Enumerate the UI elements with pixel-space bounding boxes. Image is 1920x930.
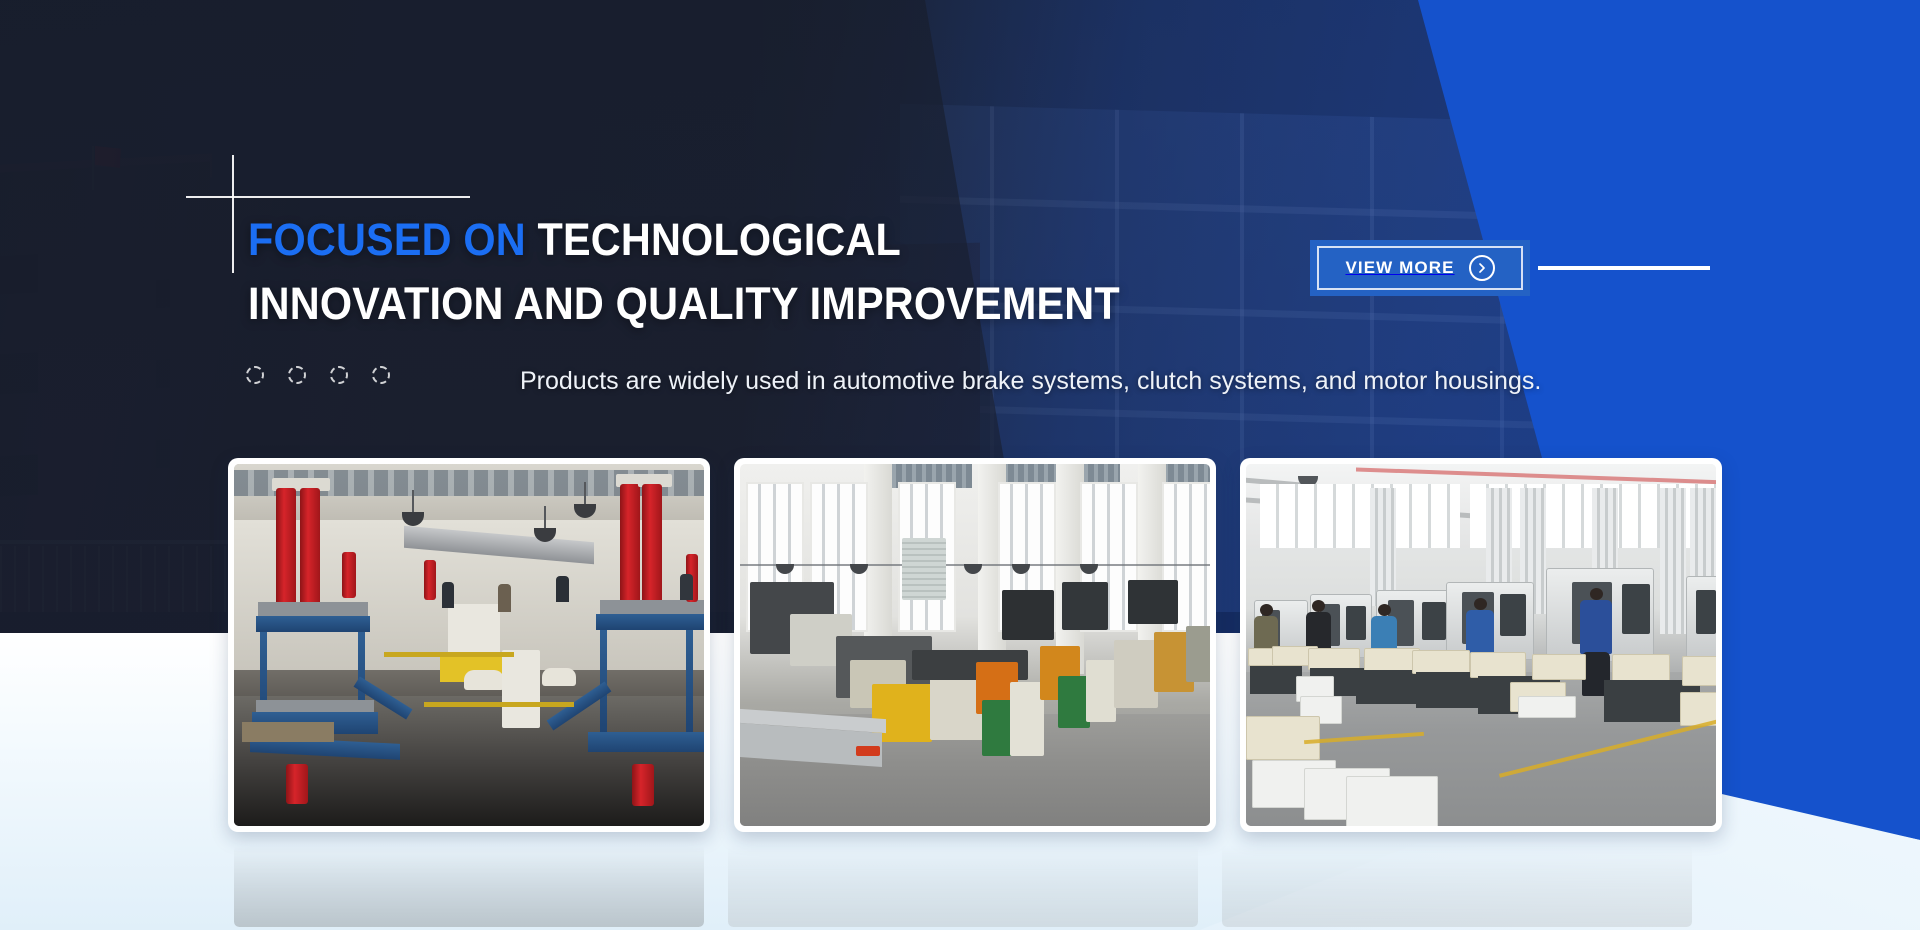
headline-line-two: INNOVATION AND QUALITY IMPROVEMENT — [248, 272, 1168, 336]
hero-subtitle: Products are widely used in automotive b… — [520, 364, 1541, 398]
decor-cross-vertical-icon — [232, 155, 234, 273]
headline-accent: FOCUSED ON — [248, 214, 526, 265]
photo-cnc-machining-line — [1246, 464, 1716, 826]
photo-rubber-vulcanizing-press-line — [234, 464, 704, 826]
carousel-dot-3[interactable] — [330, 366, 348, 384]
headline-rest: TECHNOLOGICAL — [526, 214, 901, 265]
hero-headline: FOCUSED ON TECHNOLOGICAL INNOVATION AND … — [248, 208, 1168, 336]
carousel-dot-2[interactable] — [288, 366, 306, 384]
carousel-dot-1[interactable] — [246, 366, 264, 384]
gallery-cards — [228, 458, 1722, 832]
view-more-label: VIEW MORE — [1345, 258, 1454, 278]
reflection-3 — [1222, 845, 1692, 927]
gallery-card-3[interactable] — [1240, 458, 1722, 832]
decor-cross-horizontal-icon — [186, 196, 470, 198]
gallery-reflections — [234, 845, 1692, 927]
view-more-rule — [1538, 266, 1710, 270]
reflection-2 — [728, 845, 1198, 927]
gallery-card-1[interactable] — [228, 458, 710, 832]
carousel-indicators[interactable] — [246, 366, 390, 384]
photo-die-casting-machine-hall — [740, 464, 1210, 826]
carousel-dot-4[interactable] — [372, 366, 390, 384]
gallery-card-2[interactable] — [734, 458, 1216, 832]
view-more-button[interactable]: VIEW MORE — [1310, 240, 1530, 296]
reflection-1 — [234, 845, 704, 927]
hero-banner: FOCUSED ON TECHNOLOGICAL INNOVATION AND … — [0, 0, 1920, 930]
chevron-right-circle-icon — [1469, 255, 1495, 281]
